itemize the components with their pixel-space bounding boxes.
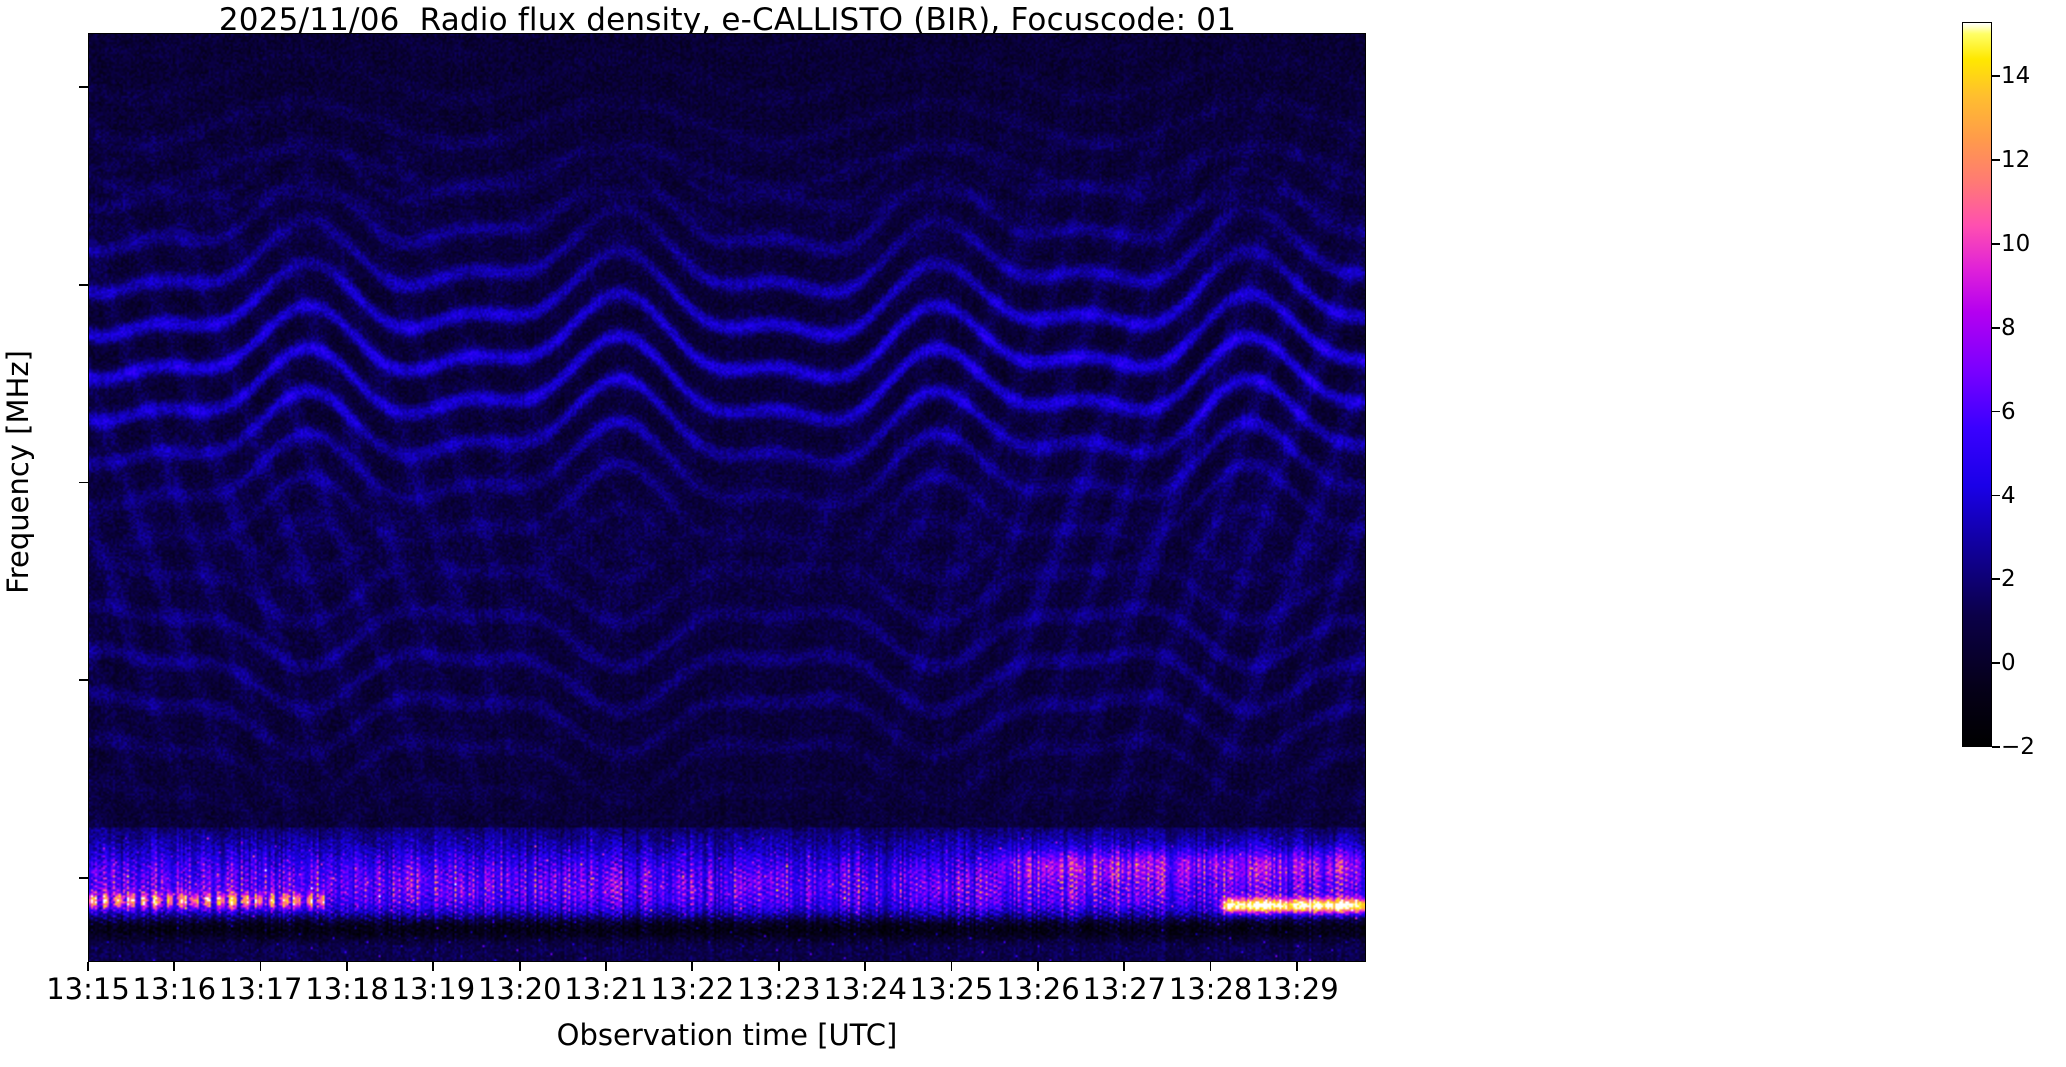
x-tick-mark [864,962,866,971]
colorbar-tick-label: 2 [2001,566,2016,592]
colorbar-tick-mark [1992,578,2000,580]
x-tick-mark [1210,962,1212,971]
colorbar-tick-mark [1992,75,2000,77]
colorbar-tick-mark [1992,411,2000,413]
x-tick-mark [778,962,780,971]
x-tick-label: 13:26 [996,972,1080,1006]
colorbar-tick-mark [1992,327,2000,329]
colorbar-tick-label: 0 [2001,650,2016,676]
colorbar-tick-label: 14 [2001,63,2030,89]
x-tick-label: 13:21 [564,972,648,1006]
colorbar-tick-mark [1992,243,2000,245]
colorbar-tick-mark [1992,159,2000,161]
x-tick-label: 13:23 [737,972,821,1006]
x-tick-mark [605,962,607,971]
x-tick-label: 13:18 [305,972,389,1006]
y-tick-mark [79,86,88,88]
x-tick-label: 13:15 [46,972,130,1006]
x-tick-mark [951,962,953,971]
colorbar-tick-label: 12 [2001,147,2030,173]
x-tick-mark [87,962,89,971]
x-tick-label: 13:19 [392,972,476,1006]
x-tick-mark [346,962,348,971]
colorbar-tick-label: 4 [2001,483,2016,509]
x-tick-mark [519,962,521,971]
x-tick-label: 13:22 [651,972,735,1006]
x-tick-label: 13:17 [219,972,303,1006]
colorbar-tick-mark [1992,495,2000,497]
spectrogram-plot-area[interactable] [88,33,1366,962]
colorbar-tick-label: 10 [2001,231,2030,257]
y-tick-mark [79,679,88,681]
colorbar-tick-mark [1992,746,2000,748]
x-tick-mark [1037,962,1039,971]
colorbar-tick-mark [1992,662,2000,664]
x-tick-mark [173,962,175,971]
x-tick-label: 13:25 [910,972,994,1006]
x-tick-mark [1296,962,1298,971]
x-tick-mark [260,962,262,971]
x-tick-label: 13:28 [1169,972,1253,1006]
y-axis-label: Frequency [MHz] [1,2,35,942]
y-tick-mark [79,284,88,286]
y-tick-mark [79,482,88,484]
x-axis-label: Observation time [UTC] [88,1018,1366,1052]
y-tick-mark [79,877,88,879]
colorbar-tick-label: −2 [2001,734,2035,760]
colorbar-tick-label: 6 [2001,399,2016,425]
spectrogram-image [89,34,1365,961]
colorbar-gradient [1963,23,1991,746]
colorbar-tick-label: 8 [2001,315,2016,341]
colorbar[interactable] [1962,22,1992,747]
x-tick-label: 13:29 [1255,972,1339,1006]
x-tick-label: 13:27 [1082,972,1166,1006]
x-tick-mark [1123,962,1125,971]
x-tick-label: 13:16 [133,972,217,1006]
x-tick-label: 13:20 [478,972,562,1006]
x-tick-label: 13:24 [823,972,907,1006]
x-tick-mark [432,962,434,971]
x-tick-mark [691,962,693,971]
